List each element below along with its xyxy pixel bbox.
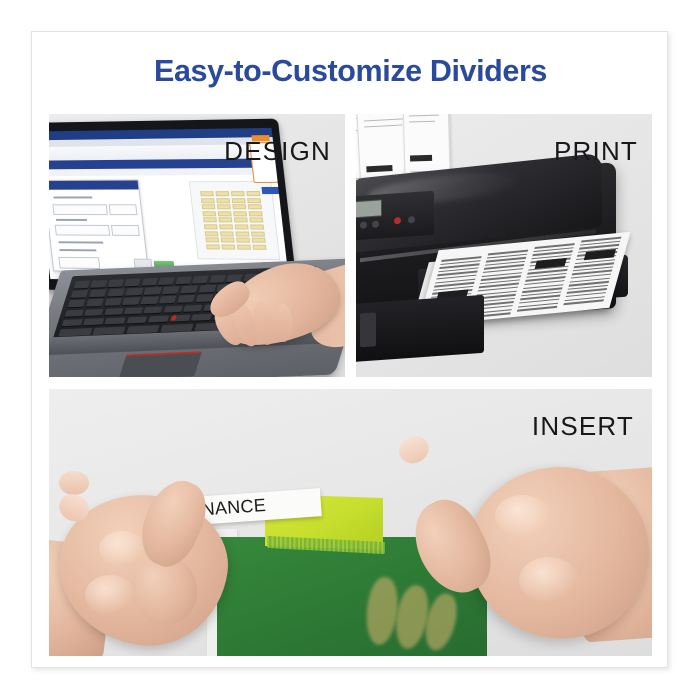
printer-lcd-display <box>356 199 382 219</box>
hand-right-holding-divider <box>399 437 652 656</box>
printer-button <box>360 221 367 228</box>
panel-design: DESIGN <box>49 114 345 377</box>
printer-control-panel <box>356 191 434 242</box>
printer-button <box>372 220 379 227</box>
page-title: Easy-to-Customize Dividers <box>32 54 669 89</box>
printer-front-base <box>356 295 484 363</box>
panel-print: PRINT <box>356 114 652 377</box>
panel-label-insert: INSERT <box>532 411 634 442</box>
hand-left-holding-label <box>59 471 289 656</box>
hand-typing <box>182 247 345 377</box>
panel-insert: FINANCE INSERT <box>49 389 652 656</box>
laptop-touchpad <box>119 351 203 377</box>
printer-button <box>408 216 415 223</box>
label-sheet-grid <box>200 191 266 243</box>
panel-label-design: DESIGN <box>224 136 331 167</box>
screen-side-action-button <box>261 187 279 194</box>
dialog-titlebar <box>49 181 139 190</box>
printer-memory-card-slot <box>360 312 376 347</box>
product-image-card: Easy-to-Customize Dividers <box>31 31 668 668</box>
printer-power-button <box>394 217 401 224</box>
panel-label-print: PRINT <box>554 136 638 167</box>
